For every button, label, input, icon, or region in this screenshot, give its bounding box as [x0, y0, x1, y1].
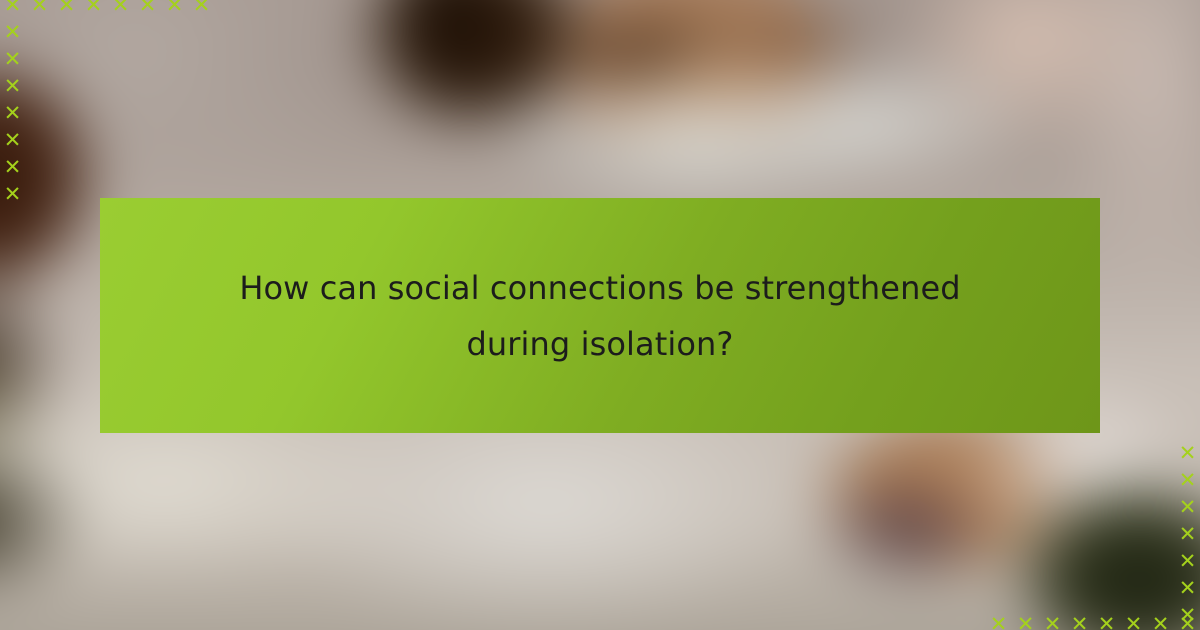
social-card: ✕✕✕✕✕✕✕✕ ✕✕✕✕✕✕✕ ✕✕✕✕✕✕✕ ✕✕✕✕✕✕✕✕ How ca… — [0, 0, 1200, 630]
page-title: How can social connections be strengthen… — [215, 260, 985, 372]
photo-face-mask-highlight — [706, 45, 1045, 193]
headline-banner: How can social connections be strengthen… — [100, 198, 1100, 433]
